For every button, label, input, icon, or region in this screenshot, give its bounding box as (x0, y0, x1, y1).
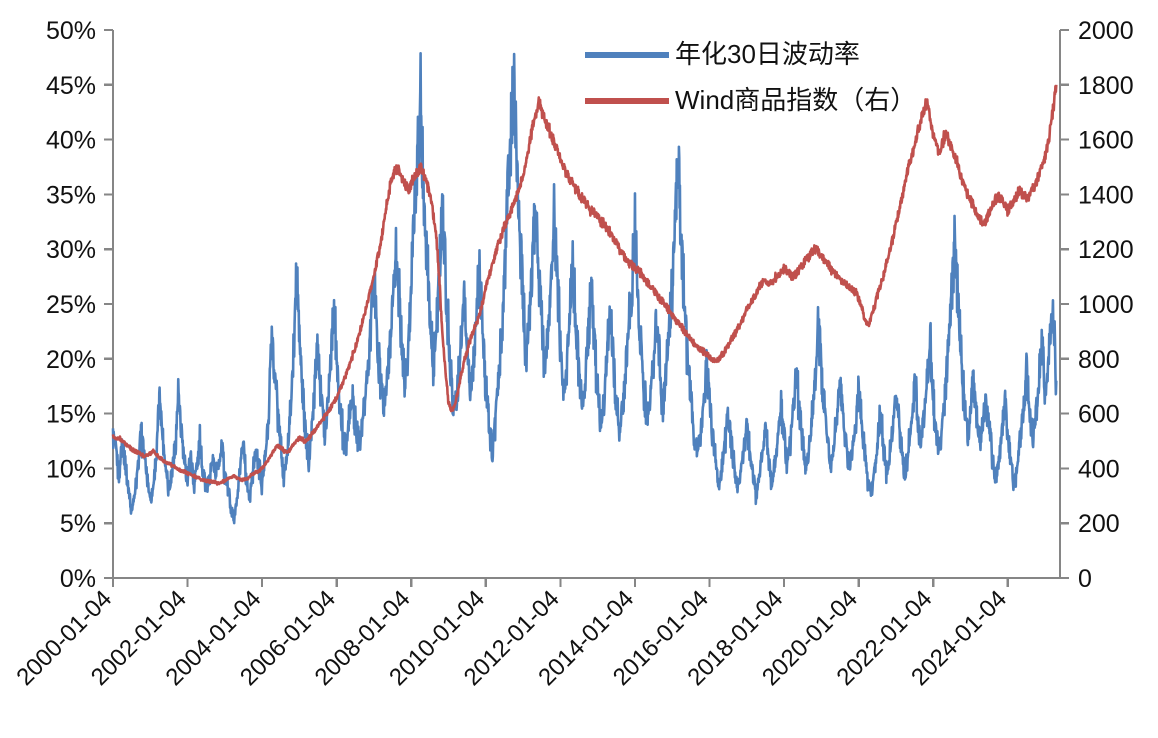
y-axis-left-tick-label: 10% (46, 455, 96, 483)
y-axis-right-tick-label: 0 (1078, 565, 1092, 593)
y-axis-left-tick-label: 5% (60, 510, 96, 538)
y-axis-left-tick-label: 20% (46, 346, 96, 374)
y-axis-left-tick-label: 35% (46, 181, 96, 209)
y-axis-right-tick-label: 1800 (1078, 72, 1134, 100)
y-axis-right-tick-label: 200 (1078, 510, 1120, 538)
y-axis-right-tick-label: 800 (1078, 346, 1120, 374)
legend-label-2: Wind商品指数（右） (675, 85, 916, 115)
y-axis-right-tick-label: 1400 (1078, 181, 1134, 209)
y-axis-left-tick-label: 45% (46, 72, 96, 100)
y-axis-right-tick-label: 1600 (1078, 127, 1134, 155)
y-axis-left-tick-label: 25% (46, 291, 96, 319)
y-axis-right-tick-label: 400 (1078, 455, 1120, 483)
y-axis-right-tick-label: 1000 (1078, 291, 1134, 319)
y-axis-left-tick-label: 15% (46, 401, 96, 429)
y-axis-right-tick-label: 600 (1078, 401, 1120, 429)
chart-canvas: 0%5%10%15%20%25%30%35%40%45%50% 02004006… (0, 0, 1158, 738)
y-axis-left-tick-label: 30% (46, 236, 96, 264)
y-axis-left-tick-label: 40% (46, 127, 96, 155)
y-axis-left-tick-label: 0% (60, 565, 96, 593)
y-axis-right-tick-label: 2000 (1078, 17, 1134, 45)
y-axis-right-tick-label: 1200 (1078, 236, 1134, 264)
legend-label-1: 年化30日波动率 (675, 39, 860, 69)
chart-container: 0%5%10%15%20%25%30%35%40%45%50% 02004006… (0, 0, 1158, 738)
y-axis-left-tick-label: 50% (46, 17, 96, 45)
